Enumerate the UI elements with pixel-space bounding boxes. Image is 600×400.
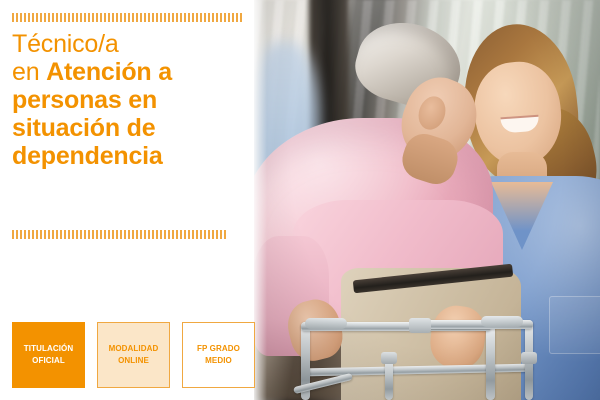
badge-titulacion-oficial-line-1: TITULACIÓN bbox=[24, 343, 73, 355]
badge-titulacion-oficial[interactable]: TITULACIÓN OFICIAL bbox=[12, 322, 85, 388]
headline-line-3: personas en bbox=[12, 86, 250, 114]
walker-joint-center bbox=[409, 318, 431, 333]
decorative-rule-bottom bbox=[12, 230, 227, 239]
badge-fp-grado-medio-line-2: MEDIO bbox=[205, 355, 232, 367]
headline-line-4: situación de bbox=[12, 114, 250, 142]
walker-joint-right bbox=[521, 352, 537, 364]
walker-joint-left bbox=[381, 352, 397, 364]
decorative-rule-top bbox=[12, 13, 244, 22]
badge-modalidad-online-line-2: ONLINE bbox=[118, 355, 149, 367]
headline-line-5: dependencia bbox=[12, 142, 250, 170]
walker-right-leg bbox=[486, 322, 495, 400]
headline-line-2-bold: Atención a bbox=[46, 58, 172, 86]
walker-grip-right bbox=[481, 316, 523, 327]
walking-frame bbox=[253, 0, 600, 400]
page-title: Técnico/a en Atención a personas en situ… bbox=[12, 30, 250, 170]
headline-line-1: Técnico/a bbox=[12, 30, 250, 58]
badge-group: TITULACIÓN OFICIAL MODALIDAD ONLINE FP G… bbox=[12, 322, 255, 388]
badge-titulacion-oficial-line-2: OFICIAL bbox=[32, 355, 65, 367]
walker-grip-left bbox=[305, 318, 347, 329]
text-panel: Técnico/a en Atención a personas en situ… bbox=[0, 0, 254, 400]
badge-modalidad-online[interactable]: MODALIDAD ONLINE bbox=[97, 322, 170, 388]
walker-lower-crossbar bbox=[301, 364, 533, 377]
headline-line-2-thin: en bbox=[12, 58, 46, 86]
banner-photo bbox=[253, 0, 600, 400]
badge-fp-grado-medio-line-1: FP GRADO bbox=[197, 343, 240, 355]
course-promo-banner: Técnico/a en Atención a personas en situ… bbox=[0, 0, 600, 400]
badge-fp-grado-medio[interactable]: FP GRADO MEDIO bbox=[182, 322, 255, 388]
headline-line-2: en Atención a bbox=[12, 58, 250, 86]
badge-modalidad-online-line-1: MODALIDAD bbox=[109, 343, 159, 355]
